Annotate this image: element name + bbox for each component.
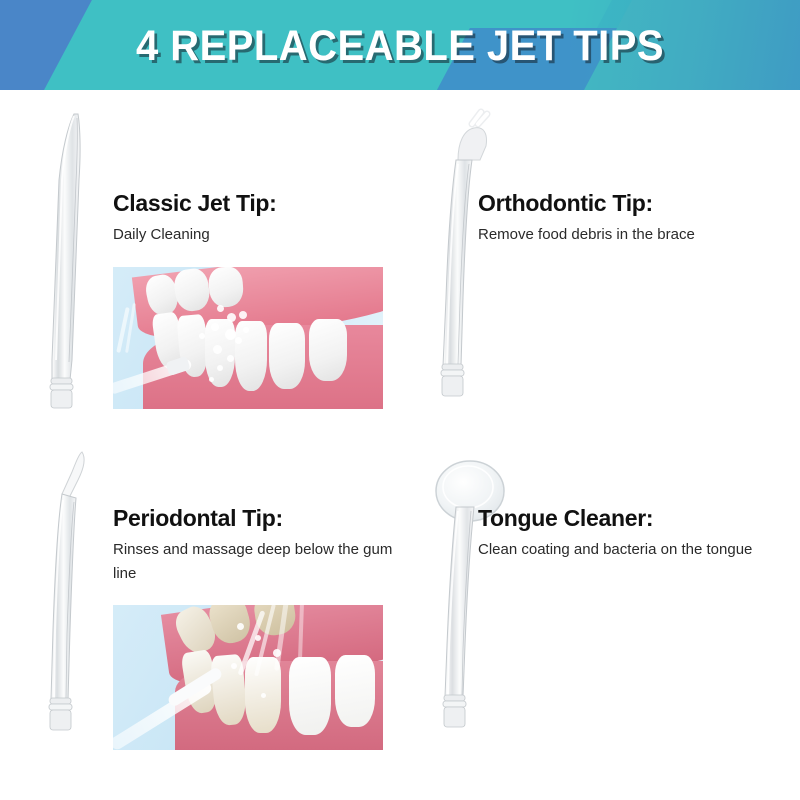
page-title: 4 REPLACEABLE JET TIPS: [28, 0, 772, 90]
orthodontic-tip-nozzle: [432, 108, 512, 418]
tip-card-periodontal-tip: Periodontal Tip: Rinses and massage deep…: [0, 430, 400, 770]
orthodontic-tip-text: Orthodontic Tip: Remove food debris in t…: [478, 190, 798, 247]
periodontal-tip-title: Periodontal Tip:: [113, 505, 403, 531]
orthodontic-tip-title: Orthodontic Tip:: [478, 190, 798, 216]
periodontal-tip-nozzle: [38, 450, 108, 745]
tip-card-classic-jet-tip: Classic Jet Tip: Daily Cleaning: [0, 100, 400, 430]
periodontal-tip-description: Rinses and massage deep below the gum li…: [113, 538, 403, 585]
orthodontic-tip-description: Remove food debris in the brace: [478, 223, 798, 246]
gum-line-deep-clean-photo: [113, 605, 383, 750]
tongue-cleaner-description: Clean coating and bacteria on the tongue: [478, 538, 798, 561]
tongue-cleaner-text: Tongue Cleaner: Clean coating and bacter…: [478, 505, 798, 562]
classic-jet-tip-nozzle: [38, 110, 108, 415]
teeth-gum-water-spray-photo: [113, 267, 383, 409]
tip-card-tongue-cleaner: Tongue Cleaner: Clean coating and bacter…: [400, 430, 800, 770]
tip-card-orthodontic-tip: Orthodontic Tip: Remove food debris in t…: [400, 100, 800, 430]
header-banner: 4 REPLACEABLE JET TIPS: [0, 0, 800, 90]
classic-jet-tip-text: Classic Jet Tip: Daily Cleaning: [113, 190, 393, 247]
tongue-cleaner-title: Tongue Cleaner:: [478, 505, 798, 531]
classic-jet-tip-description: Daily Cleaning: [113, 223, 393, 246]
tongue-cleaner-nozzle: [422, 445, 522, 740]
classic-jet-tip-title: Classic Jet Tip:: [113, 190, 393, 216]
periodontal-tip-text: Periodontal Tip: Rinses and massage deep…: [113, 505, 403, 585]
